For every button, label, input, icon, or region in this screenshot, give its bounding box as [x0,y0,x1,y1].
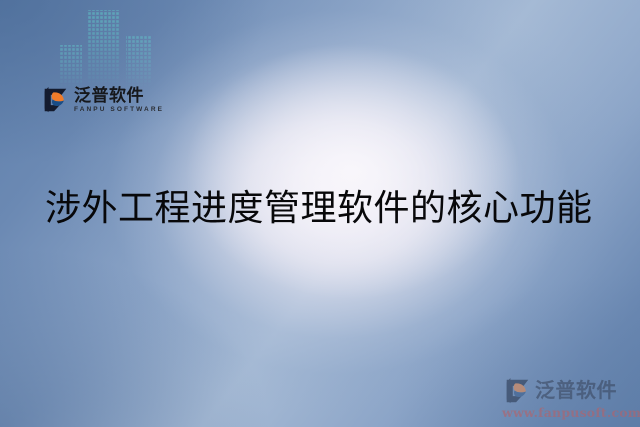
brand-name-en: FANPU SOFTWARE [74,107,164,114]
slide-title: 涉外工程进度管理软件的核心功能 [45,186,593,231]
brand-text-block: 泛普软件 FANPU SOFTWARE [74,86,164,114]
pixel-skyline-icon [60,8,170,88]
fanpu-logo-icon [502,376,532,406]
watermark-url: www.fanpusoft.com [502,407,634,420]
brand-name-cn: 泛普软件 [74,87,164,104]
watermark: 泛普软件 www.fanpusoft.com [502,376,634,420]
brand-logo: 泛普软件 FANPU SOFTWARE [40,85,164,115]
fanpu-logo-icon [40,85,70,115]
watermark-name-cn: 泛普软件 [535,381,617,401]
watermark-logo-row: 泛普软件 [502,376,634,406]
slide-canvas: 泛普软件 FANPU SOFTWARE 涉外工程进度管理软件的核心功能 泛普软件… [0,0,640,427]
